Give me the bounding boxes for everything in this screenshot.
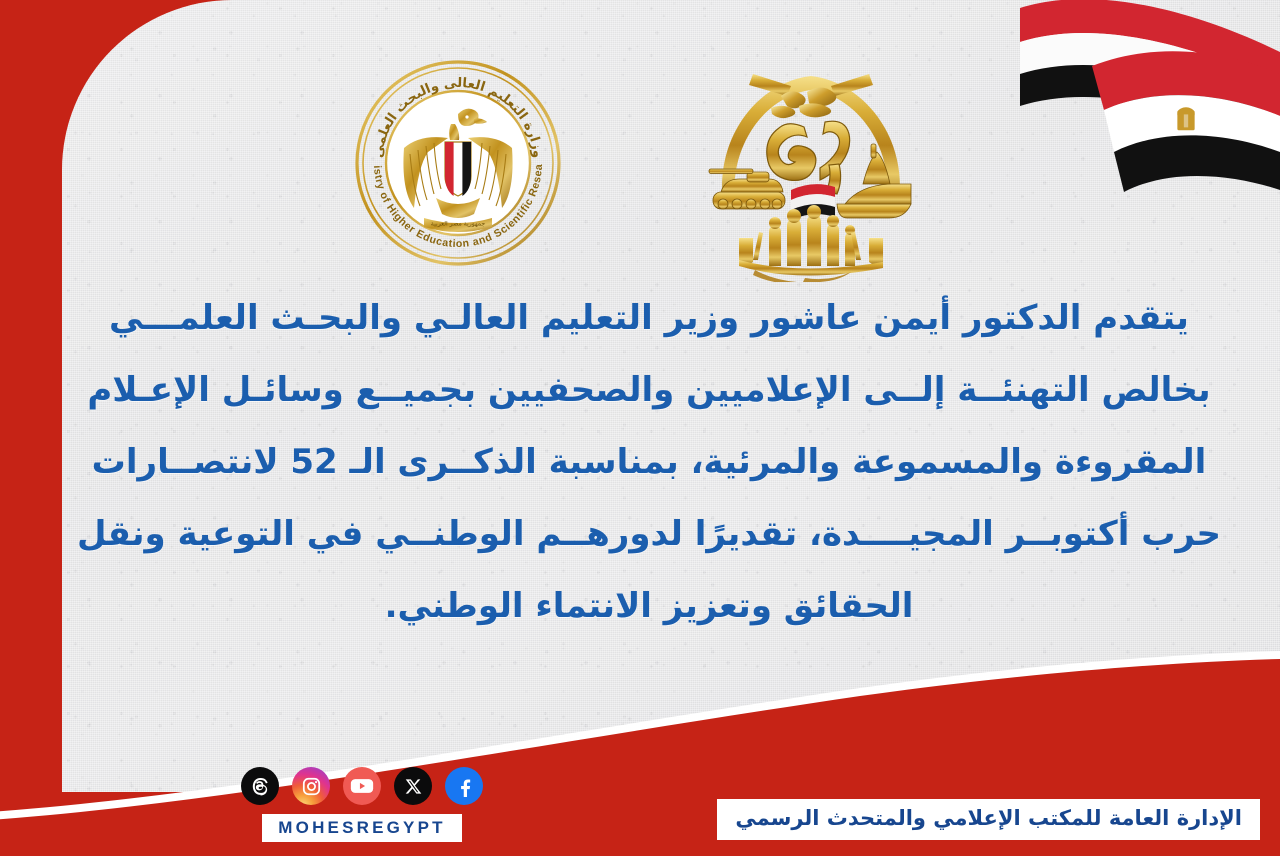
message-line-3: المقروءة والمسموعة والمرئية، بمناسبة الذ… — [58, 426, 1240, 498]
x-twitter-icon[interactable] — [394, 767, 432, 805]
message-line-1: يتقدم الدكتور أيمن عاشور وزير التعليم ال… — [58, 282, 1240, 354]
social-footer: MOHESREGYPT — [222, 767, 502, 842]
eagle-shield — [445, 142, 471, 196]
threads-icon[interactable] — [241, 767, 279, 805]
message-line-4: حرب أكتوبــر المجيــــدة، تقديرًا لدورهـ… — [58, 498, 1240, 570]
eagle-caption-text: جمهورية مصر العربية — [431, 221, 486, 228]
tank-icon — [709, 169, 785, 209]
emblems-row: ٥٢ نصر أكتوبر إرادة شعب صنعت نصرًا — [0, 36, 1280, 292]
october-victory-emblem: ٥٢ نصر أكتوبر إرادة شعب صنعت نصرًا — [695, 52, 927, 282]
social-icons-row — [241, 767, 483, 805]
social-handle-label: MOHESREGYPT — [262, 814, 461, 842]
naval-ship-icon — [837, 144, 911, 218]
poster-canvas: ٥٢ نصر أكتوبر إرادة شعب صنعت نصرًا — [0, 0, 1280, 856]
ministry-of-higher-education-logo: وزارة التعليم العالى والبحث العلمى Minis… — [353, 58, 563, 268]
message-line-2: بخالص التهنئــة إلــى الإعلاميين والصحفي… — [58, 354, 1240, 426]
media-office-label: الإدارة العامة للمكتب الإعلامي والمتحدث … — [717, 799, 1260, 840]
youtube-icon[interactable] — [343, 767, 381, 805]
facebook-icon[interactable] — [445, 767, 483, 805]
instagram-icon[interactable] — [292, 767, 330, 805]
